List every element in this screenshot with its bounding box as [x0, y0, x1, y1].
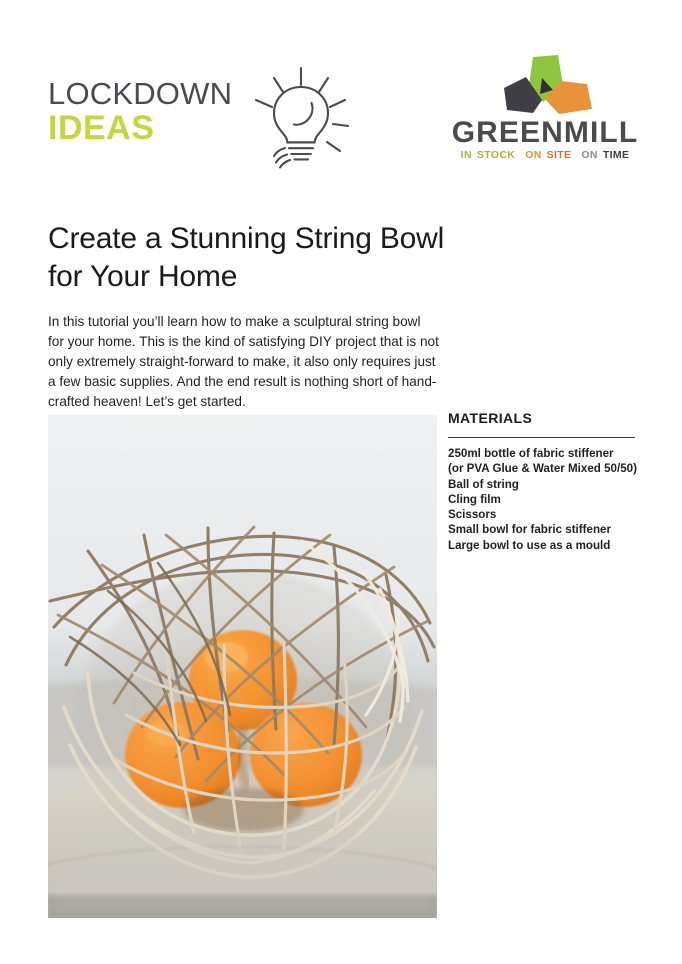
tagline-word-stock: STOCK	[477, 149, 515, 161]
page-title: Create a Stunning String Bowl for Your H…	[48, 220, 448, 296]
greenmill-logo: GREENMILL INSTOCKONSITEONTIME	[449, 55, 641, 167]
greenmill-tagline: INSTOCKONSITEONTIME	[449, 149, 641, 161]
materials-divider	[448, 437, 635, 438]
materials-heading: MATERIALS	[448, 409, 638, 427]
tagline-word-in: IN	[461, 149, 472, 161]
materials-panel: MATERIALS 250ml bottle of fabric stiffen…	[448, 409, 638, 553]
tagline-word-time: TIME	[603, 149, 629, 161]
tagline-word-site: SITE	[547, 149, 572, 161]
intro-paragraph: In this tutorial you’ll learn how to mak…	[48, 312, 440, 413]
greenmill-wordmark: GREENMILL	[449, 117, 641, 149]
list-item: Scissors	[448, 507, 638, 522]
list-item: Cling film	[448, 492, 638, 507]
string-bowl-photo	[48, 415, 437, 918]
lockdown-ideas-logo: LOCKDOWN IDEAS	[48, 78, 308, 173]
page-header: LOCKDOWN IDEAS	[0, 0, 682, 185]
list-item: 250ml bottle of fabric stiffener	[448, 446, 638, 461]
lightbulb-icon	[244, 56, 356, 174]
list-item: Ball of string	[448, 477, 638, 492]
tagline-word-on-time: ON	[581, 149, 597, 161]
list-item: (or PVA Glue & Water Mixed 50/50)	[448, 461, 638, 476]
materials-list: 250ml bottle of fabric stiffener (or PVA…	[448, 446, 638, 553]
greenmill-pinwheel-icon	[495, 55, 607, 117]
list-item: Large bowl to use as a mould	[448, 538, 638, 553]
list-item: Small bowl for fabric stiffener	[448, 522, 638, 537]
tagline-word-on-site: ON	[525, 149, 541, 161]
